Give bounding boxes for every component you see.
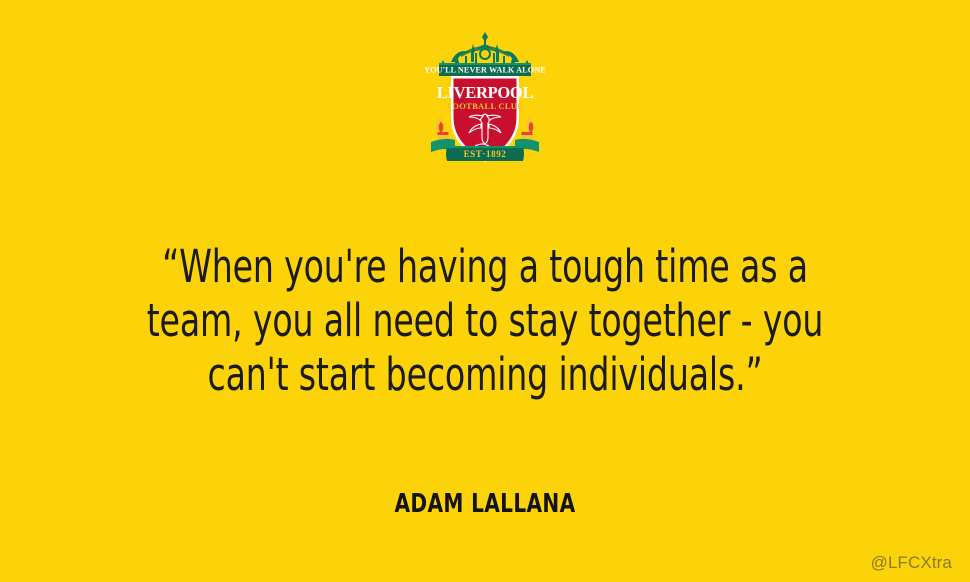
crest-club-subtitle: FOOTBALL CLUB xyxy=(447,101,523,111)
liverpool-fc-crest-icon: YOU'LL NEVER WALK ALONE LIVERPOOL FOOTBA… xyxy=(421,30,549,168)
quote-card: YOU'LL NEVER WALK ALONE LIVERPOOL FOOTBA… xyxy=(0,0,970,582)
crest-founded-banner-text: EST·1892 xyxy=(464,149,507,159)
crest-container: YOU'LL NEVER WALK ALONE LIVERPOOL FOOTBA… xyxy=(0,30,970,168)
crest-club-name: LIVERPOOL xyxy=(437,83,534,102)
crest-top-banner-text: YOU'LL NEVER WALK ALONE xyxy=(424,66,546,75)
social-handle-watermark: @LFCXtra xyxy=(871,553,952,573)
crest-top-banner: YOU'LL NEVER WALK ALONE xyxy=(424,63,546,76)
quote-attribution: ADAM LALLANA xyxy=(68,489,902,519)
quote-text: “When you're having a tough time as a te… xyxy=(87,240,882,402)
